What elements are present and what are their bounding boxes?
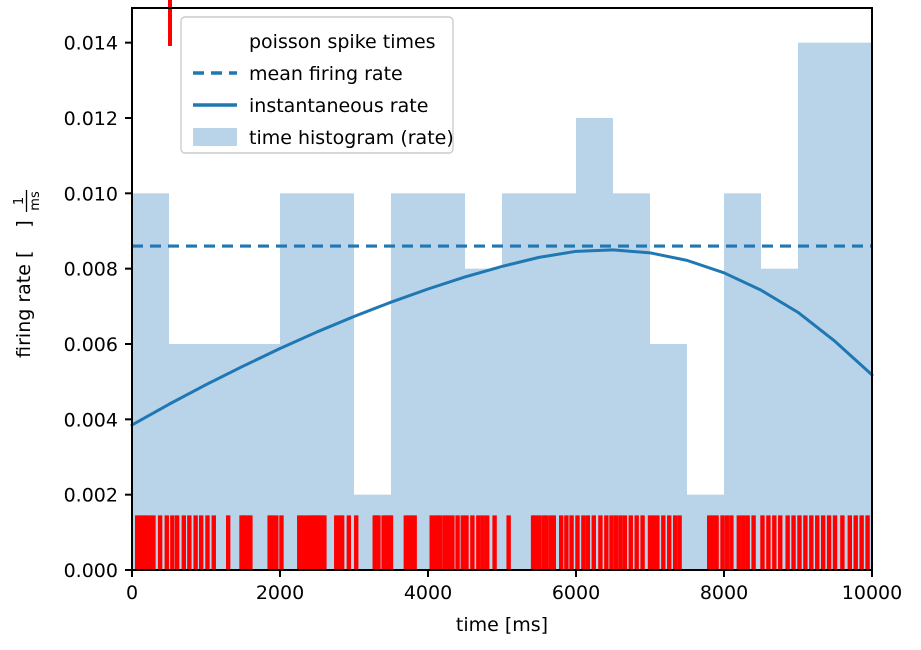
histogram-bar — [502, 193, 539, 570]
x-tick-label: 8000 — [700, 582, 748, 604]
legend: poisson spike timesmean firing rateinsta… — [181, 17, 454, 153]
x-axis-title: time [ms] — [456, 614, 548, 636]
legend-entry[interactable]: time histogram (rate) — [193, 127, 454, 149]
y-tick-label: 0.004 — [64, 409, 118, 431]
legend-entry-label: instantaneous rate — [249, 95, 428, 117]
y-axis-title-suffix: ] — [13, 220, 35, 227]
y-tick-label: 0.010 — [64, 183, 118, 205]
histogram-bar — [317, 193, 354, 570]
histogram-bar — [391, 193, 428, 570]
x-axis-ticks — [132, 570, 872, 577]
x-tick-label: 10000 — [842, 582, 902, 604]
y-axis-title-fraction: 1 ms — [12, 190, 43, 212]
histogram-bar — [835, 43, 872, 570]
fraction-denominator: ms — [28, 191, 43, 211]
y-tick-label: 0.008 — [64, 259, 118, 281]
histogram-bar — [724, 193, 761, 570]
fraction-numerator: 1 — [12, 197, 27, 205]
y-axis-title: firing rate [ ] 1 ms — [12, 190, 43, 358]
x-tick-label: 6000 — [552, 582, 600, 604]
histogram-bar — [798, 43, 835, 570]
x-tick-label: 4000 — [404, 582, 452, 604]
histogram-bar — [576, 118, 613, 570]
x-tick-label: 2000 — [256, 582, 304, 604]
figure-canvas: 0200040006000800010000 0.0000.0020.0040.… — [0, 0, 921, 650]
svg-text:firing rate [ ]: firing rate [ ] — [13, 220, 35, 358]
legend-entry-label: poisson spike times — [249, 31, 436, 53]
y-tick-label: 0.014 — [64, 33, 118, 55]
legend-entry-label: mean firing rate — [249, 63, 403, 85]
y-axis-title-prefix: firing rate [ — [13, 251, 35, 358]
y-tick-label: 0.012 — [64, 108, 118, 130]
y-tick-label: 0.000 — [64, 560, 118, 582]
x-axis-tick-labels: 0200040006000800010000 — [126, 582, 902, 604]
x-tick-label: 0 — [126, 582, 138, 604]
histogram-bar — [428, 193, 465, 570]
y-tick-label: 0.002 — [64, 485, 118, 507]
histogram-bar — [206, 344, 243, 570]
chart-svg: 0200040006000800010000 0.0000.0020.0040.… — [0, 0, 921, 650]
histogram-bar — [132, 193, 169, 570]
legend-patch-swatch — [193, 128, 237, 146]
y-axis-tick-labels: 0.0000.0020.0040.0060.0080.0100.0120.014 — [64, 33, 118, 582]
legend-entry[interactable]: poisson spike times — [249, 31, 436, 53]
y-axis-ticks — [125, 43, 132, 570]
histogram-bar — [539, 193, 576, 570]
y-tick-label: 0.006 — [64, 334, 118, 356]
legend-entry-label: time histogram (rate) — [249, 127, 454, 149]
histogram-bar — [280, 193, 317, 570]
